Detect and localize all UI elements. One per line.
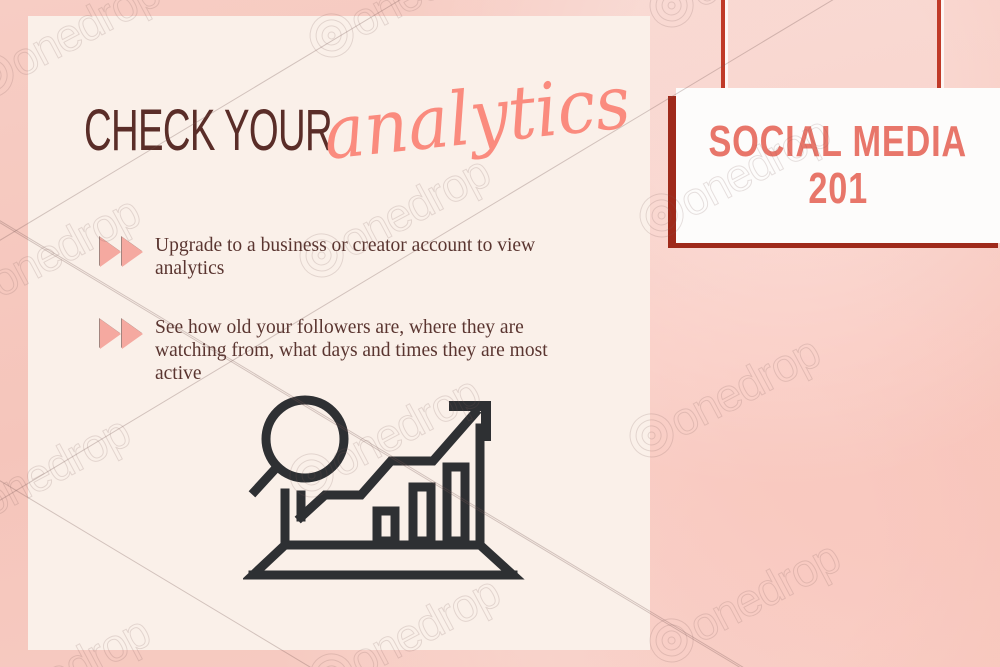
laptop-analytics-icon (243, 383, 531, 588)
slide-canvas: CHECK YOUR analytics Upgrade to a busine… (0, 0, 1000, 667)
double-chevron-icon (100, 237, 152, 267)
sign-title-line2: 201 (808, 165, 868, 213)
headline: CHECK YOUR analytics (84, 98, 604, 190)
bullet-item: See how old your followers are, where th… (100, 316, 580, 385)
sign-string-left-highlight (725, 0, 728, 93)
bullet-text: See how old your followers are, where th… (155, 316, 580, 385)
double-chevron-icon (100, 319, 152, 349)
sign-title-line1: SOCIAL MEDIA (709, 119, 968, 165)
sign-board: SOCIAL MEDIA 201 (676, 88, 1000, 243)
sign-string-right-highlight (941, 0, 944, 93)
headline-main-text: CHECK YOUR (84, 102, 332, 160)
bullet-item: Upgrade to a business or creator account… (100, 234, 570, 280)
hanging-sign: SOCIAL MEDIA 201 (660, 0, 1000, 250)
bullet-text: Upgrade to a business or creator account… (155, 234, 570, 280)
